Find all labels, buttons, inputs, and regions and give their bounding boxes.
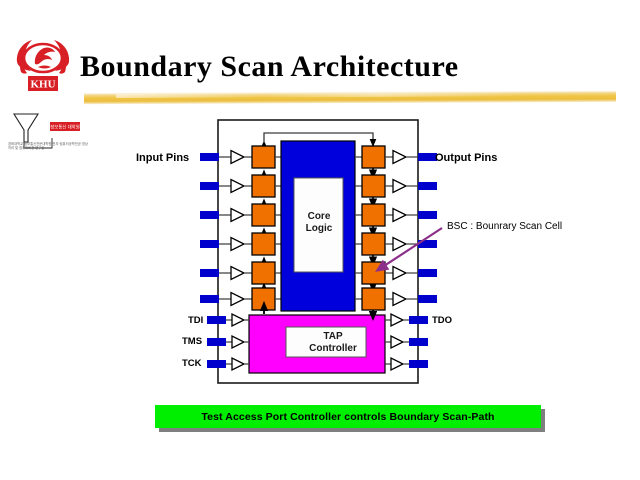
khu-university-logo: KHU [14, 36, 72, 98]
output-buffer [393, 180, 406, 193]
output-buffer [393, 238, 406, 251]
bsc-cell [362, 288, 385, 310]
bsc-cell [252, 233, 275, 255]
pin-pad [207, 360, 226, 368]
svg-text:정보통신 대학원: 정보통신 대학원 [50, 124, 80, 131]
summary-banner: Test Access Port Controller controls Bou… [155, 405, 541, 428]
input-pin-row [200, 180, 252, 193]
bsc-annotation-label: BSC : Bounrary Scan Cell [447, 221, 562, 232]
tap-output-pin-group [385, 314, 428, 370]
core-logic-label: Core Logic [294, 211, 344, 235]
output-pin-row [385, 293, 437, 306]
bsc-cell [252, 204, 275, 226]
input-buffer [232, 336, 244, 348]
tms-label: TMS [182, 336, 202, 347]
page-title: Boundary Scan Architecture [80, 50, 459, 84]
output-buffer [393, 151, 406, 164]
output-pin-row [385, 180, 437, 193]
input-buffer [231, 151, 244, 164]
tap-input-pin-group [207, 314, 249, 370]
input-pins-label: Input Pins [136, 152, 189, 164]
department-logo-caption: 경희대학교 정보통신전문대학원 전자·컴퓨터공학전공 영상처리 및 컴퓨터비전 … [8, 142, 88, 150]
input-buffer [231, 267, 244, 280]
input-buffer [232, 314, 244, 326]
input-pin-group [200, 151, 252, 306]
input-buffer [231, 180, 244, 193]
tdi-label: TDI [188, 315, 203, 326]
pin-pad [409, 338, 428, 346]
pin-pad [200, 211, 219, 219]
output-buffer [391, 314, 403, 326]
output-pin-row [385, 151, 437, 164]
input-buffer [231, 293, 244, 306]
output-pin-row [385, 267, 437, 280]
bsc-cell [252, 262, 275, 284]
input-pin-row [200, 209, 252, 222]
pin-pad [207, 316, 226, 324]
pin-pad [418, 240, 437, 248]
bsc-cell [362, 233, 385, 255]
pin-pad [418, 182, 437, 190]
tap-input-pin-row [207, 314, 249, 326]
input-buffer [231, 209, 244, 222]
bsc-cell [252, 288, 275, 310]
output-buffer [393, 293, 406, 306]
input-buffer [232, 358, 244, 370]
bsc-cell [362, 204, 385, 226]
pin-pad [418, 295, 437, 303]
pin-pad [409, 360, 428, 368]
pin-pad [200, 269, 219, 277]
output-buffer [393, 267, 406, 280]
bsc-cell-highlighted [362, 262, 385, 284]
core-logic-label-line2: Logic [294, 223, 344, 235]
pin-pad [200, 240, 219, 248]
tdo-label: TDO [432, 315, 452, 326]
gold-brush-underline [84, 91, 616, 104]
tap-output-pin-row [385, 358, 428, 370]
core-logic-label-line1: Core [294, 211, 344, 223]
bsc-cell [252, 175, 275, 197]
summary-banner-text: Test Access Port Controller controls Bou… [201, 411, 494, 423]
pin-pad [200, 153, 219, 161]
output-pins-label: Output Pins [435, 152, 497, 164]
input-pin-row [200, 267, 252, 280]
input-pin-row [200, 293, 252, 306]
bsc-annotation-arrow [381, 228, 442, 268]
tap-label-line2: Controller [290, 343, 376, 355]
input-pin-row [200, 238, 252, 251]
bsc-cell [252, 146, 275, 168]
khu-logo-text: KHU [30, 79, 55, 91]
pin-pad [409, 316, 428, 324]
output-buffer [391, 336, 403, 348]
pin-pad [418, 269, 437, 277]
pin-pad [207, 338, 226, 346]
boundary-scan-cell-column-left [252, 146, 282, 315]
output-buffer [391, 358, 403, 370]
slide-canvas: KHU Boundary Scan Architecture 정보통신 대학원 … [0, 0, 640, 480]
input-buffer [231, 238, 244, 251]
tck-label: TCK [182, 358, 202, 369]
output-buffer [393, 209, 406, 222]
tap-input-pin-row [207, 336, 249, 348]
tap-controller-label: TAP Controller [290, 331, 376, 355]
output-pin-row [385, 238, 437, 251]
tap-input-pin-row [207, 358, 249, 370]
pin-pad [418, 211, 437, 219]
pin-pad [200, 182, 219, 190]
tap-label-line1: TAP [290, 331, 376, 343]
output-pin-group [385, 151, 437, 306]
boundary-scan-cell-column-right [355, 146, 385, 316]
tap-output-pin-row [385, 336, 428, 348]
scan-path-top-link [264, 133, 373, 143]
output-pin-row [385, 209, 437, 222]
bsc-cell [362, 175, 385, 197]
tap-output-pin-row [385, 314, 428, 326]
input-pin-row [200, 151, 252, 164]
bsc-cell [362, 146, 385, 168]
pin-pad [200, 295, 219, 303]
